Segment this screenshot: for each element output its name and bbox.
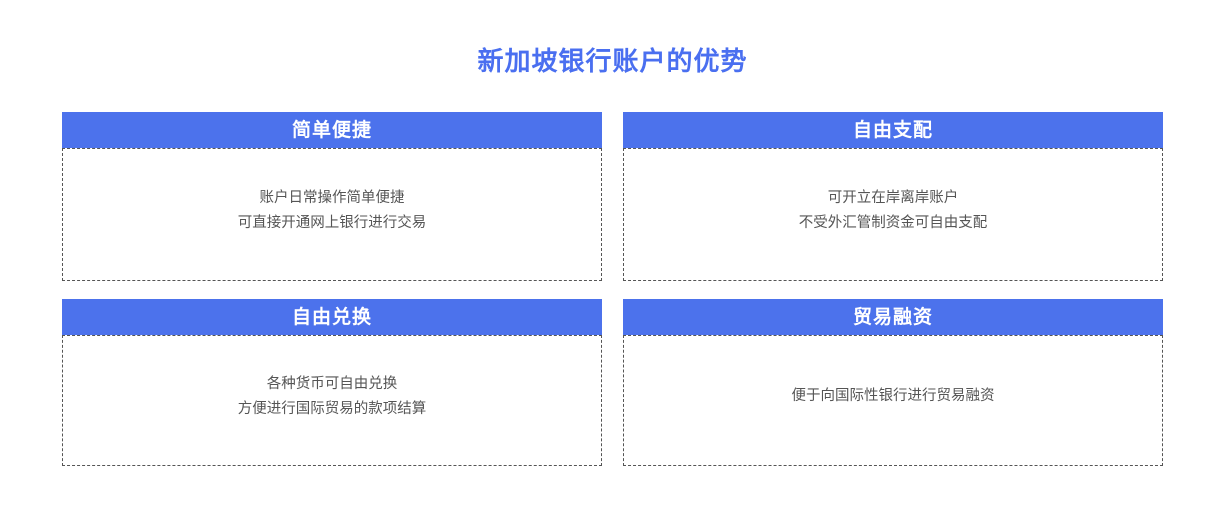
- advantages-card-grid: 简单便捷 账户日常操作简单便捷 可直接开通网上银行进行交易 自由支配 可开立在岸…: [62, 112, 1163, 466]
- advantage-card-2-line-2: 不受外汇管制资金可自由支配: [799, 211, 988, 236]
- advantage-card-2-body: 可开立在岸离岸账户 不受外汇管制资金可自由支配: [623, 148, 1163, 281]
- advantage-card-2-header: 自由支配: [623, 112, 1163, 148]
- advantage-card-4-header: 贸易融资: [623, 299, 1163, 335]
- advantage-card-2-text: 可开立在岸离岸账户 不受外汇管制资金可自由支配: [799, 186, 988, 236]
- advantage-card-4-body: 便于向国际性银行进行贸易融资: [623, 335, 1163, 466]
- advantage-card-4-line-1: 便于向国际性银行进行贸易融资: [792, 384, 995, 409]
- advantage-card-3[interactable]: 自由兑换 各种货币可自由兑换 方便进行国际贸易的款项结算: [62, 299, 602, 466]
- advantage-card-3-body: 各种货币可自由兑换 方便进行国际贸易的款项结算: [62, 335, 602, 466]
- advantage-card-1-line-2: 可直接开通网上银行进行交易: [238, 211, 427, 236]
- advantage-card-4-text: 便于向国际性银行进行贸易融资: [792, 384, 995, 409]
- advantage-card-3-text: 各种货币可自由兑换 方便进行国际贸易的款项结算: [238, 372, 427, 422]
- advantage-card-1[interactable]: 简单便捷 账户日常操作简单便捷 可直接开通网上银行进行交易: [62, 112, 602, 281]
- advantage-card-1-header: 简单便捷: [62, 112, 602, 148]
- advantage-card-2-line-1: 可开立在岸离岸账户: [799, 186, 988, 211]
- advantage-card-4[interactable]: 贸易融资 便于向国际性银行进行贸易融资: [623, 299, 1163, 466]
- advantage-card-3-line-2: 方便进行国际贸易的款项结算: [238, 397, 427, 422]
- advantage-card-1-line-1: 账户日常操作简单便捷: [238, 186, 427, 211]
- advantage-card-1-text: 账户日常操作简单便捷 可直接开通网上银行进行交易: [238, 186, 427, 236]
- advantage-card-3-line-1: 各种货币可自由兑换: [238, 372, 427, 397]
- advantage-card-1-body: 账户日常操作简单便捷 可直接开通网上银行进行交易: [62, 148, 602, 281]
- advantage-card-3-header: 自由兑换: [62, 299, 602, 335]
- page-title: 新加坡银行账户的优势: [0, 44, 1225, 78]
- advantage-card-2[interactable]: 自由支配 可开立在岸离岸账户 不受外汇管制资金可自由支配: [623, 112, 1163, 281]
- slide-canvas: 新加坡银行账户的优势 简单便捷 账户日常操作简单便捷 可直接开通网上银行进行交易…: [0, 0, 1225, 510]
